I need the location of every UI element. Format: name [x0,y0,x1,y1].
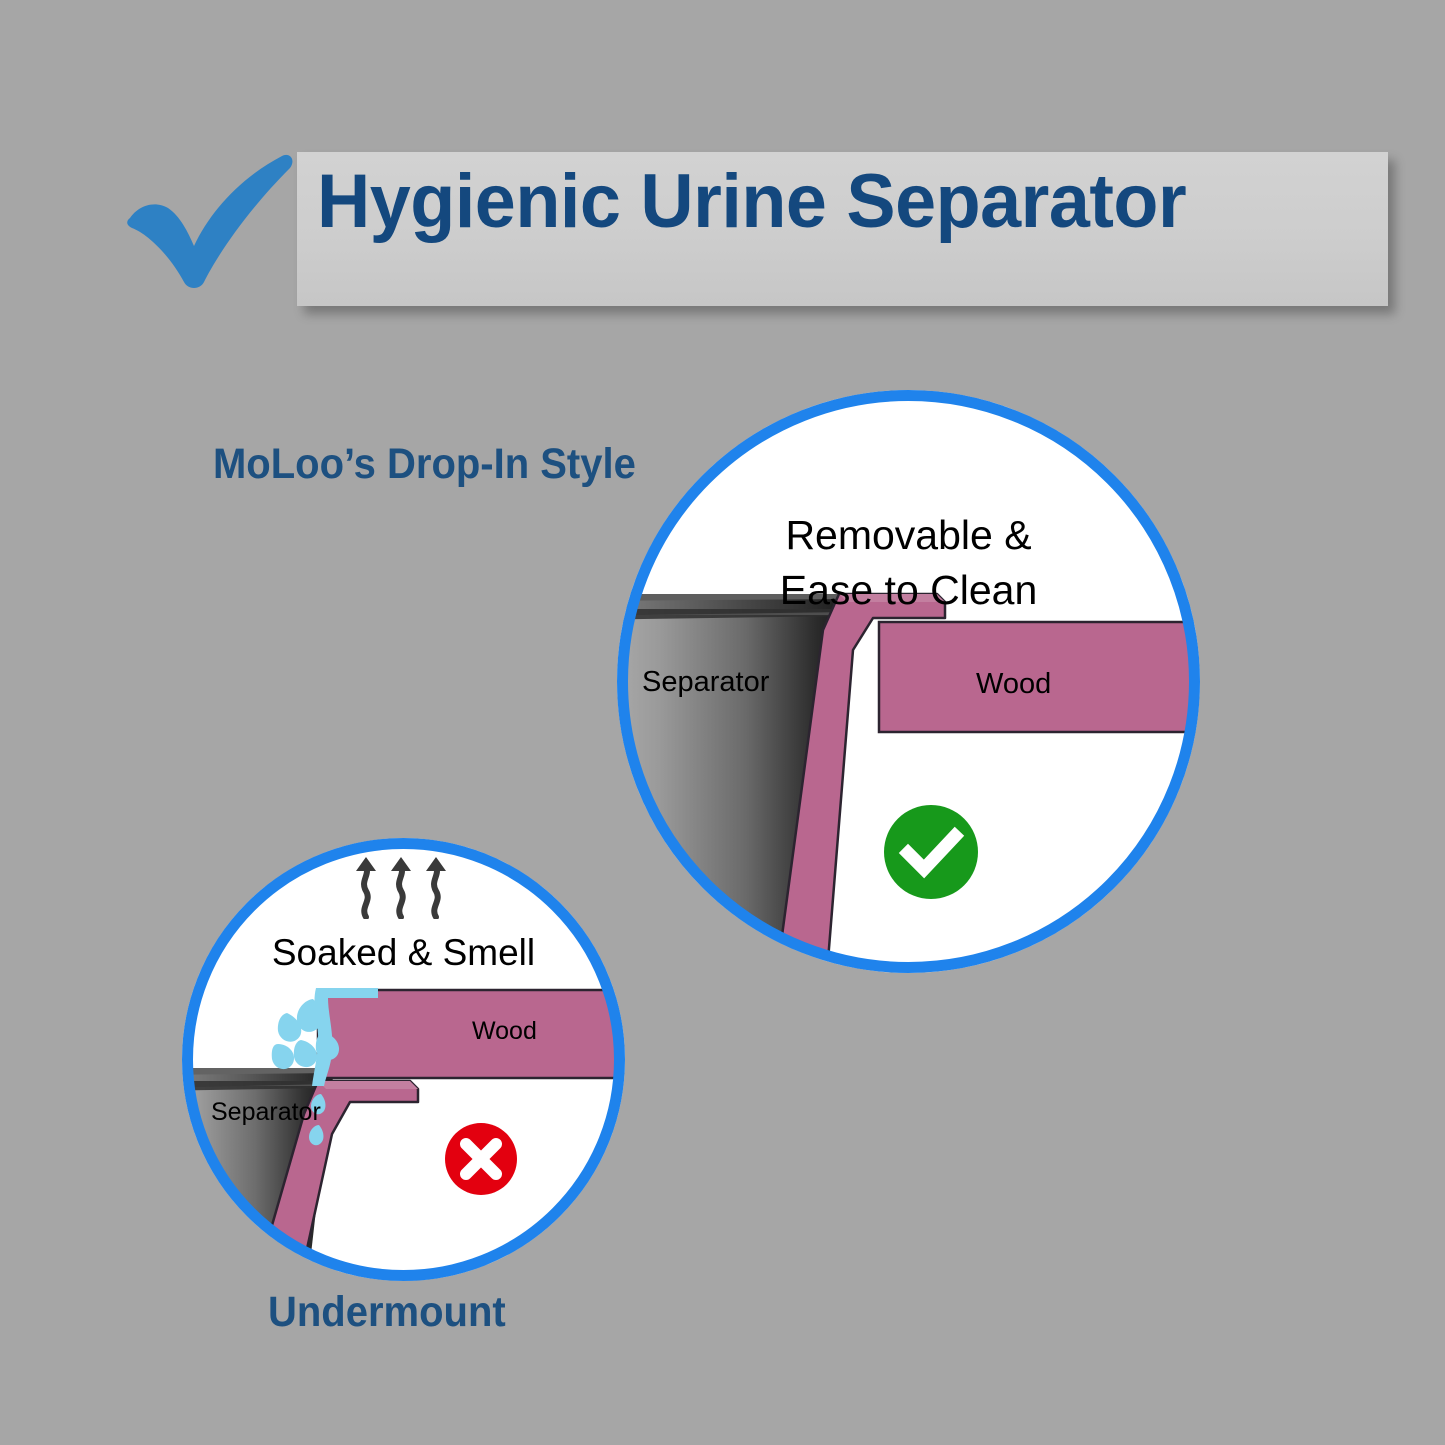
poster-canvas: Hygienic Urine Separator MoLoo’s Drop-In… [0,0,1445,1445]
blue-check-icon [124,150,304,290]
label-wood-undermount: Wood [472,1017,537,1046]
caption-drop-in-style: MoLoo’s Drop-In Style [213,440,636,489]
bubble-headline-undermount: Soaked & Smell [182,928,625,978]
page-title: Hygienic Urine Separator [317,158,1345,245]
label-separator-drop-in: Separator [642,666,769,699]
caption-undermount: Undermount [268,1288,506,1337]
label-separator-undermount: Separator [211,1098,321,1127]
green-check-circle-icon [884,805,978,899]
bubble-headline-drop-in: Removable & Ease to Clean [617,508,1200,619]
red-x-circle-icon [445,1123,517,1195]
smell-waves-icon [352,857,452,919]
label-wood-drop-in: Wood [976,668,1051,701]
title-plate: Hygienic Urine Separator [297,152,1388,306]
